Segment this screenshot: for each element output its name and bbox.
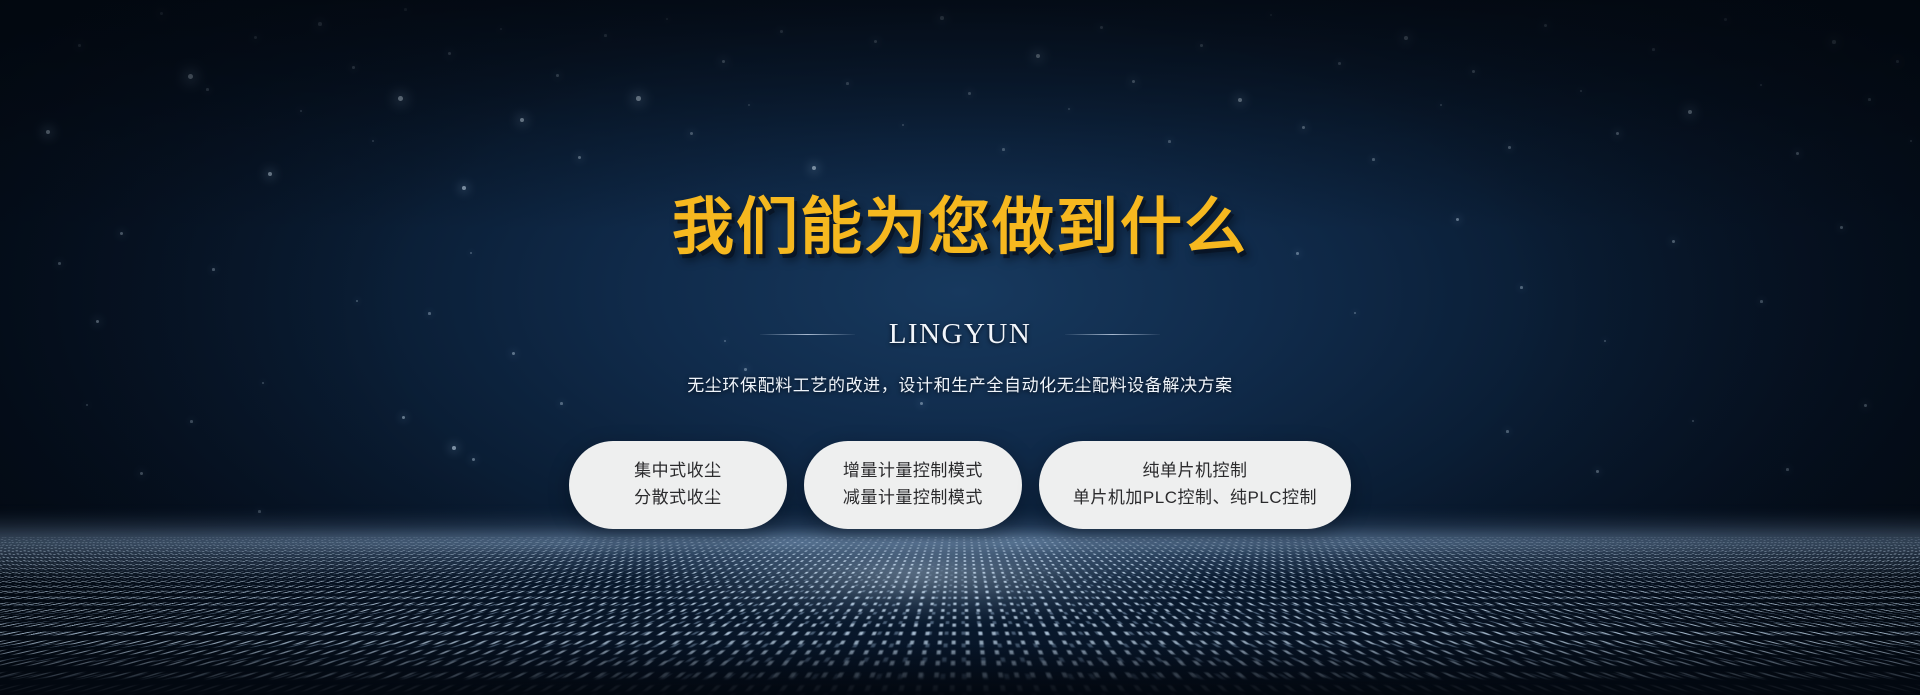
feature-card-line-2: 分散式收尘	[634, 489, 722, 508]
brand-subtitle-row: LINGYUN	[760, 318, 1161, 351]
banner-description: 无尘环保配料工艺的改进，设计和生产全自动化无尘配料设备解决方案	[687, 371, 1233, 396]
banner-content: 我们能为您做到什么 LINGYUN 无尘环保配料工艺的改进，设计和生产全自动化无…	[0, 0, 1920, 695]
feature-card-line-1: 纯单片机控制	[1142, 462, 1247, 481]
feature-card-metering-mode[interactable]: 增量计量控制模式 减量计量控制模式	[804, 441, 1022, 529]
feature-card-control-system[interactable]: 纯单片机控制 单片机加PLC控制、纯PLC控制	[1039, 441, 1351, 529]
divider-line-left	[760, 334, 855, 335]
feature-card-line-2: 单片机加PLC控制、纯PLC控制	[1073, 489, 1317, 508]
feature-card-line-1: 集中式收尘	[634, 462, 722, 481]
feature-card-list: 集中式收尘 分散式收尘 增量计量控制模式 减量计量控制模式 纯单片机控制 单片机…	[569, 441, 1351, 529]
banner-headline: 我们能为您做到什么	[672, 196, 1248, 258]
brand-pinyin-label: LINGYUN	[889, 318, 1032, 351]
feature-card-dust-collection[interactable]: 集中式收尘 分散式收尘	[569, 441, 787, 529]
hero-banner: 我们能为您做到什么 LINGYUN 无尘环保配料工艺的改进，设计和生产全自动化无…	[0, 0, 1920, 695]
feature-card-line-2: 减量计量控制模式	[843, 489, 983, 508]
feature-card-line-1: 增量计量控制模式	[843, 462, 983, 481]
divider-line-right	[1065, 334, 1160, 335]
